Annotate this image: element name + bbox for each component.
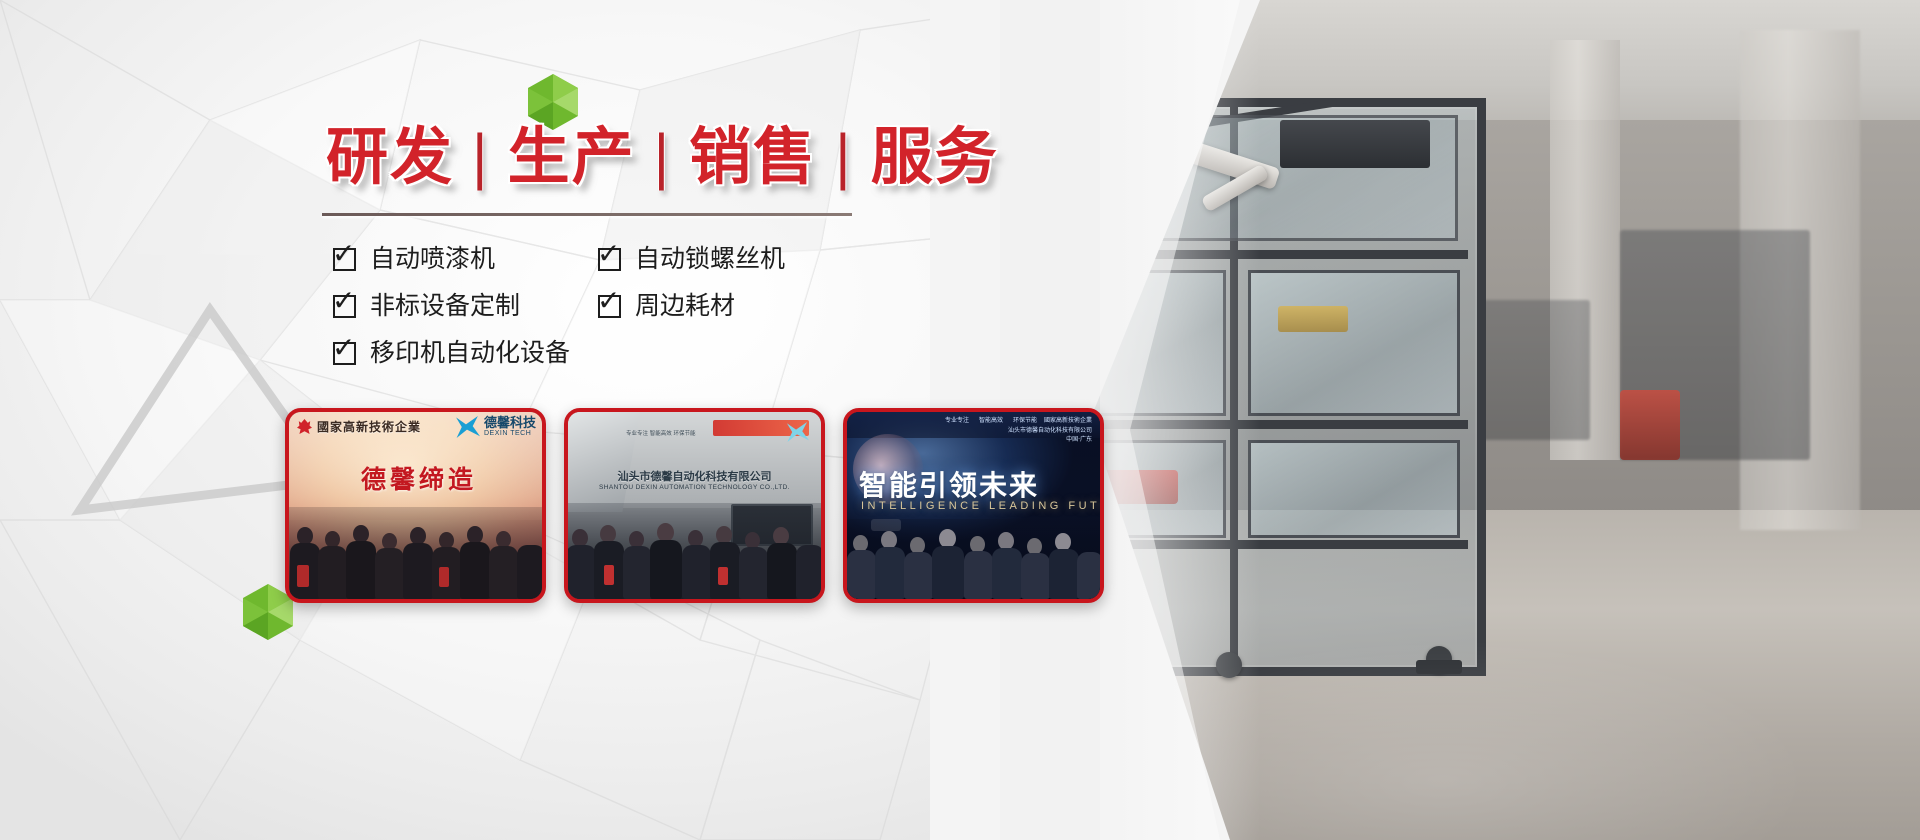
promotional-banner: 研发 | 生产 | 销售 | 服务 ✓ 自动喷漆机 ✓ 自动锁螺丝机 ✓ 非标设… [0,0,1920,840]
headline-separator-1: | [460,128,502,186]
hitech-badge: 國家高新技術企業 [297,418,421,435]
feature-item-custom-equipment: ✓ 非标设备定制 [333,282,598,326]
card3-tag-0: 专业专注 [945,416,969,426]
card2-people-row [568,503,821,599]
dexin-x-icon [785,422,809,442]
feature-label: 非标设备定制 [370,286,520,322]
feature-label: 自动喷漆机 [370,239,495,275]
card1-slogan: 德馨缔造 [361,460,477,496]
checked-box-icon: ✓ [333,340,356,363]
card3-people-row [847,519,1100,599]
headline-word-sales: 销售 [683,126,823,188]
title-divider [322,213,852,216]
checked-box-icon: ✓ [333,246,356,269]
card3-tag-1: 智能高效 [979,416,1003,426]
card3-title: 智能引领未来 [859,464,1039,504]
card2-brand-logo [785,422,809,442]
card-intelligent-leading[interactable]: 专业专注 智能高效 环保节能 國家高新技術企業 汕头市德馨自动化科技有限公司 中… [843,408,1104,603]
feature-item-auto-spray: ✓ 自动喷漆机 [333,235,598,279]
card1-brand-en: DEXIN TECH [484,430,536,437]
card3-rtag-2: 中国·广东 [1008,435,1092,445]
headline-separator-2: | [642,128,684,186]
card3-rtag-1: 汕头市德馨自动化科技有限公司 [1008,426,1092,436]
card-team-group[interactable]: 专业专注 智能高效 环保节能 汕头市德馨自动化科技有限公司 SHANTOU DE… [564,408,825,603]
card2-company-en: SHANTOU DEXIN AUTOMATION TECHNOLOGY CO.,… [599,484,790,491]
card3-subtitle: INTELLIGENCE LEADING FUTURE [861,500,1104,512]
feature-item-auto-screw: ✓ 自动锁螺丝机 [598,235,853,279]
feature-list: ✓ 自动喷漆机 ✓ 自动锁螺丝机 ✓ 非标设备定制 ✓ 周边耗材 ✓ 移印机自动… [333,235,853,376]
headline-word-service: 服务 [865,126,1005,188]
feature-label: 自动锁螺丝机 [635,239,785,275]
headline-word-production: 生产 [502,126,642,188]
card1-people-row [289,507,542,599]
checked-box-icon: ✓ [598,293,621,316]
card1-badge-label: 國家高新技術企業 [317,418,421,435]
feature-item-consumables: ✓ 周边耗材 [598,282,853,326]
headline-separator-3: | [823,128,865,186]
flame-icon [297,419,312,434]
card-exhibition-booth[interactable]: 國家高新技術企業 德馨科技 DEXIN TECH 德馨缔造 [285,408,546,603]
card1-brand-logo: 德馨科技 DEXIN TECH [454,416,536,438]
checked-box-icon: ✓ [333,293,356,316]
headline-word-rd: 研发 [320,126,460,188]
card2-note: 专业专注 智能高效 环保节能 [626,430,746,438]
page-title: 研发 | 生产 | 销售 | 服务 [320,126,1005,188]
photo-card-gallery: 國家高新技術企業 德馨科技 DEXIN TECH 德馨缔造 [285,408,1104,603]
checked-box-icon: ✓ [598,246,621,269]
card2-company-cn: 汕头市德馨自动化科技有限公司 [618,468,772,484]
dexin-x-icon [454,416,480,438]
feature-label: 移印机自动化设备 [370,333,570,369]
feature-label: 周边耗材 [635,286,735,322]
card3-rtag-0: 國家高新技術企業 [1008,416,1092,426]
card3-tag-group-right: 國家高新技術企業 汕头市德馨自动化科技有限公司 中国·广东 [1008,416,1092,445]
card1-brand-cn: 德馨科技 [484,417,536,431]
feature-item-pad-printing: ✓ 移印机自动化设备 [333,329,853,373]
